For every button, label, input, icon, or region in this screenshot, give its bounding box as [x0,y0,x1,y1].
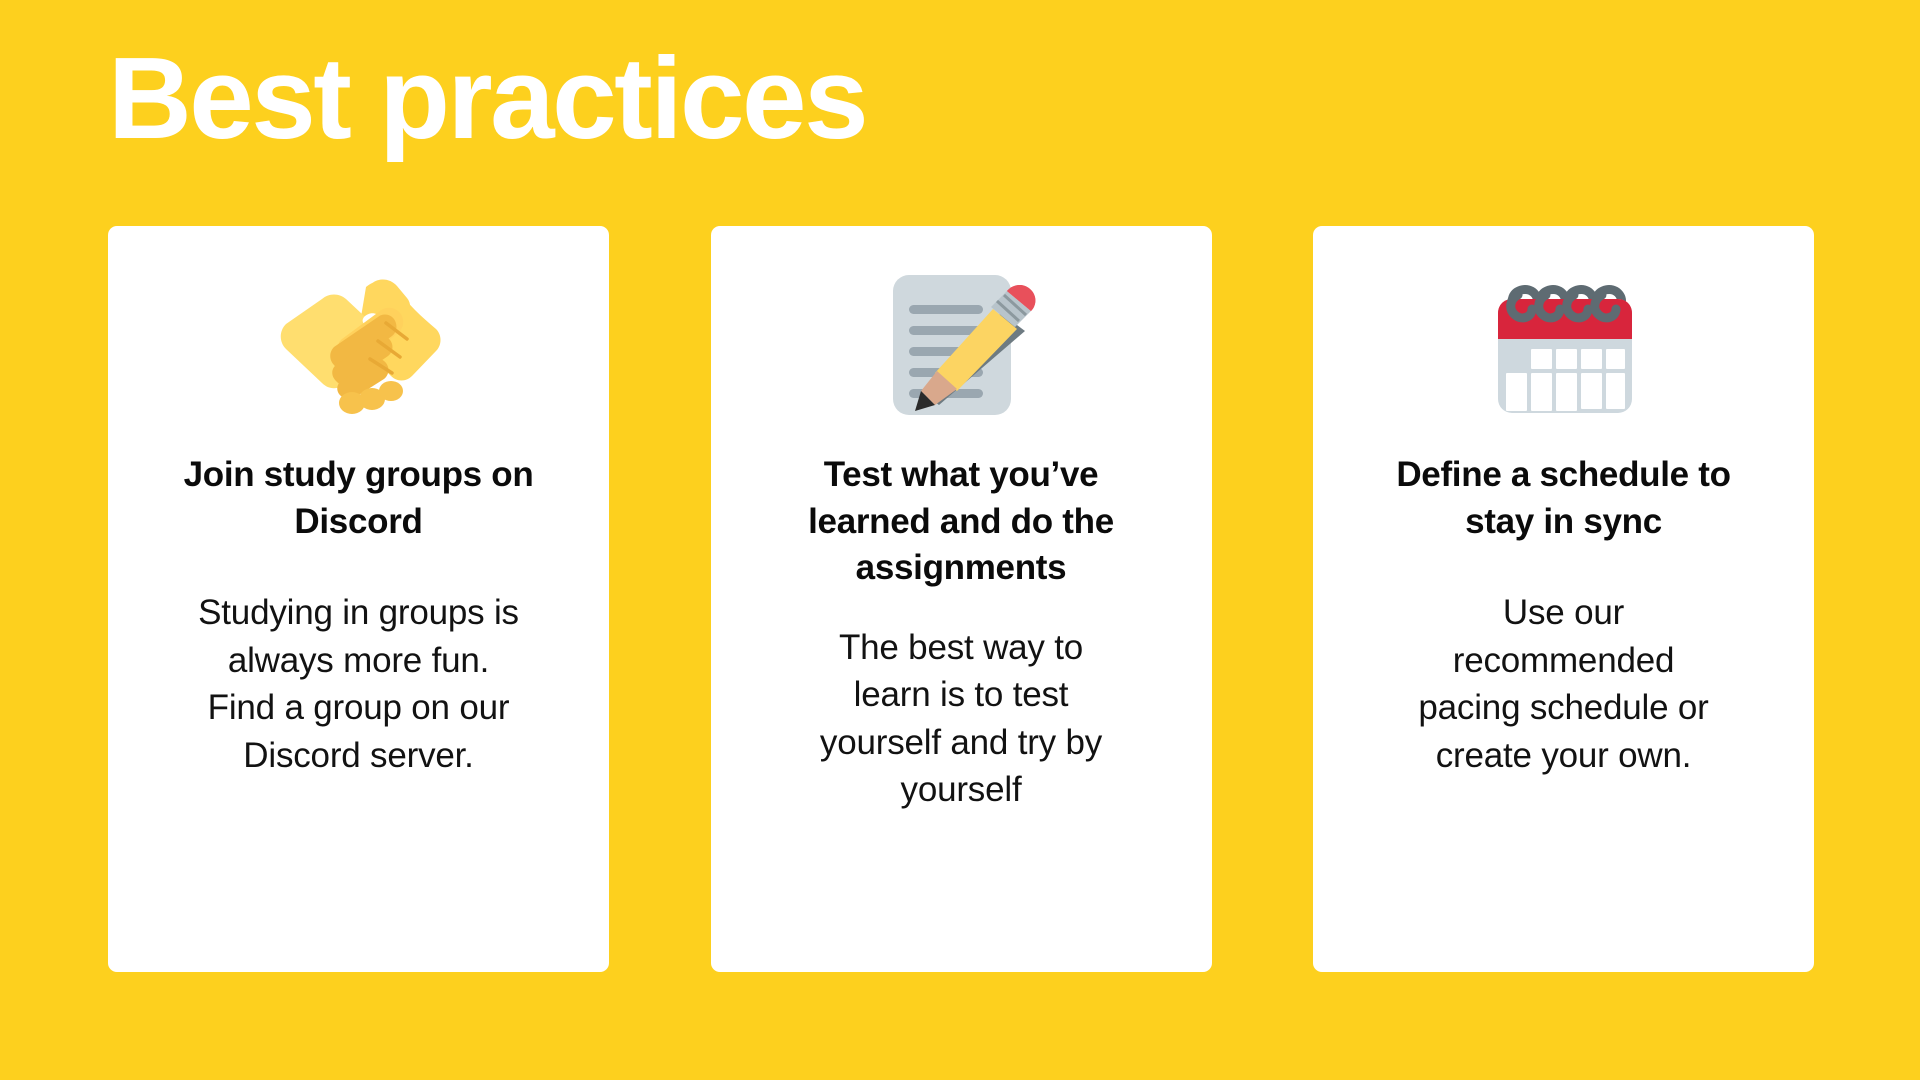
cards-row: Join study groups on Discord Studying in… [108,226,1814,972]
page-title: Best practices [108,38,866,160]
card-heading: Join study groups on Discord [179,452,539,545]
card-test-what-learned[interactable]: Test what you’ve learned and do the assi… [711,226,1212,972]
card-body: Use our recommended pacing schedule or c… [1404,589,1724,779]
card-define-schedule[interactable]: Define a schedule to stay in sync Use ou… [1313,226,1814,972]
handshake-icon [274,260,444,430]
spiral-calendar-icon [1479,260,1649,430]
card-heading: Test what you’ve learned and do the assi… [796,452,1126,592]
slide-root: Best practices [0,0,1920,1080]
card-join-study-groups[interactable]: Join study groups on Discord Studying in… [108,226,609,972]
card-body: Studying in groups is always more fun. F… [194,589,524,779]
card-body: The best way to learn is to test yoursel… [811,624,1111,814]
memo-pencil-icon [876,260,1046,430]
card-heading: Define a schedule to stay in sync [1384,452,1744,545]
